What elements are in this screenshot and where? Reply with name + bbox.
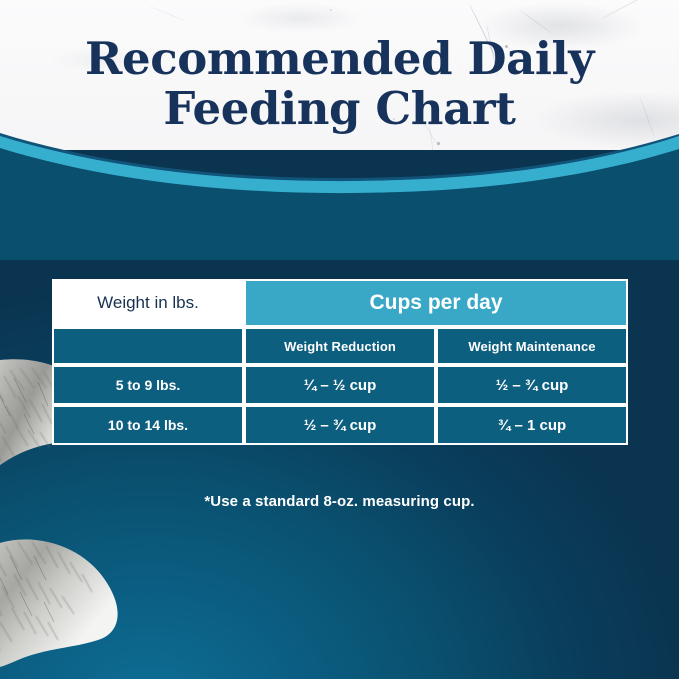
page-title: Recommended Daily Feeding Chart (0, 34, 679, 134)
feeding-chart-table: Weight in lbs. Cups per day Weight Reduc… (52, 279, 628, 445)
subheader-weight-reduction: Weight Reduction (244, 327, 436, 365)
row-0-weight: 5 to 9 lbs. (52, 365, 244, 405)
table-row: 10 to 14 lbs. ½ – ¾ cup ¾ – 1 cup (52, 405, 628, 445)
marble-vein (150, 6, 186, 21)
row-1-weight: 10 to 14 lbs. (52, 405, 244, 445)
row-1-reduction: ½ – ¾ cup (244, 405, 436, 445)
row-1-maintenance: ¾ – 1 cup (436, 405, 628, 445)
marble-speck (330, 9, 332, 11)
marble-vein (602, 0, 652, 19)
header-weight-in-lbs: Weight in lbs. (52, 279, 244, 327)
row-0-reduction: ¼ – ½ cup (244, 365, 436, 405)
measuring-cup-footnote: *Use a standard 8-oz. measuring cup. (0, 493, 679, 510)
subheader-weight-maintenance: Weight Maintenance (436, 327, 628, 365)
title-line-2: Feeding Chart (0, 84, 679, 134)
table-row: 5 to 9 lbs. ¼ – ½ cup ½ – ¾ cup (52, 365, 628, 405)
header-cups-per-day: Cups per day (244, 279, 628, 327)
feeding-chart-image: Recommended Daily Feeding Chart (0, 0, 679, 679)
marble-speck (437, 142, 440, 145)
title-line-1: Recommended Daily (85, 32, 594, 85)
table-header-row: Weight in lbs. Cups per day (52, 279, 628, 327)
table-subheader-row: Weight Reduction Weight Maintenance (52, 327, 628, 365)
row-0-maintenance: ½ – ¾ cup (436, 365, 628, 405)
cat-paw-lower (0, 539, 118, 675)
marble-vein (519, 10, 552, 34)
subheader-blank-cell (52, 327, 244, 365)
